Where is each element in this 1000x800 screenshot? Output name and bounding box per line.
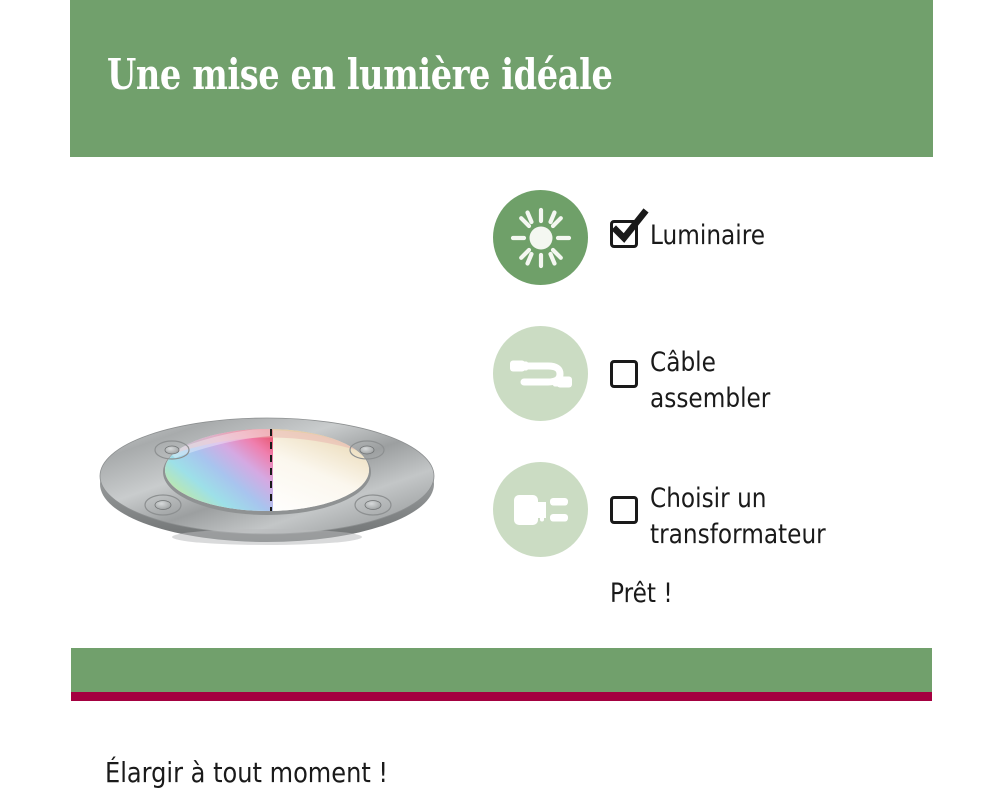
checklist-label-luminaire: Luminaire [650, 218, 765, 254]
checklist-label-cable: Câble assembler [650, 345, 770, 417]
footer-text: Élargir à tout moment ! [105, 756, 388, 790]
checklist-item-luminaire[interactable]: Luminaire [493, 190, 933, 287]
cable-icon [493, 326, 588, 421]
checkbox-cable[interactable] [610, 360, 638, 388]
checkbox-transformer[interactable] [610, 496, 638, 524]
floor-luminaire-illustration [95, 408, 440, 558]
check-mark-icon [610, 209, 650, 249]
checklist-label-transformer: Choisir un transformateur [650, 481, 826, 553]
checkbox-luminaire[interactable] [610, 220, 638, 248]
page-title: Une mise en lumière idéale [107, 54, 612, 96]
checklist-item-transformer[interactable]: Choisir un transformateur [493, 462, 933, 559]
plug-icon [493, 462, 588, 557]
checklist: Luminaire Câble assembler [493, 190, 933, 559]
product-image-floor-luminaire [95, 408, 440, 558]
ready-text: Prêt ! [610, 578, 673, 610]
footer-crimson-bar [71, 692, 932, 701]
sun-icon [493, 190, 588, 285]
footer-green-bar [71, 648, 932, 692]
checklist-item-cable[interactable]: Câble assembler [493, 326, 933, 423]
